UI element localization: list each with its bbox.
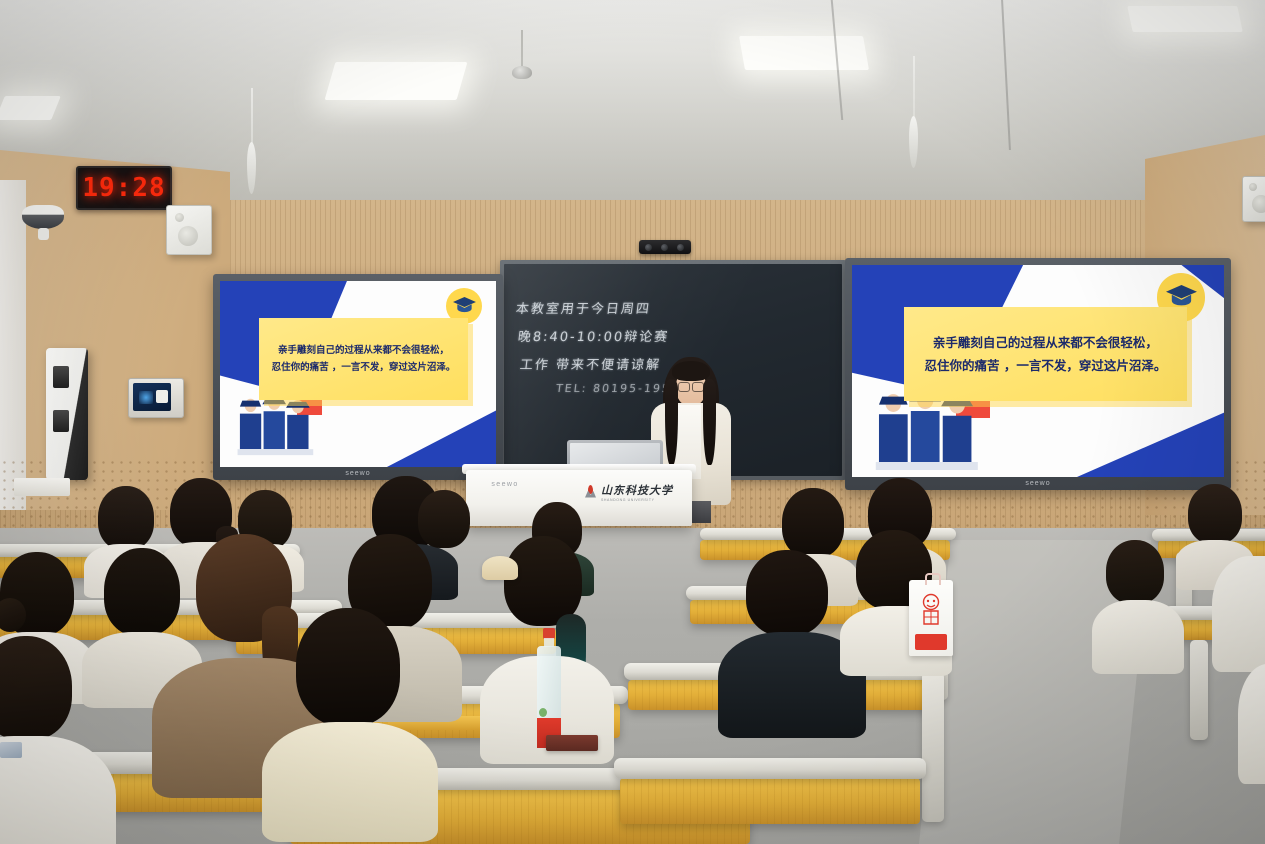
ceiling-panel-light — [0, 96, 61, 120]
display-brand-bar-left: seewo — [213, 467, 503, 480]
paper-stack — [14, 478, 70, 496]
university-name-en: SHANDONG UNIVERSITY — [601, 498, 673, 502]
slide-quote-card: 亲手雕刻自己的过程从来都不会很轻松， 忍住你的痛苦 ，一言不发，穿过这片沼泽。 — [259, 318, 469, 400]
slide-quote-line-2: 忍住你的痛苦 ，一言不发，穿过这片沼泽。 — [272, 359, 456, 377]
ceiling-panel-light — [1127, 6, 1243, 32]
display-brand-right: seewo — [1025, 480, 1050, 487]
notebook — [546, 735, 598, 751]
bench-row-front-right — [620, 778, 920, 824]
bench-rail — [614, 758, 926, 779]
university-crest-icon: 山东科技大学 SHANDONG UNIVERSITY — [584, 482, 673, 502]
microphone-cable — [251, 88, 253, 144]
presenter-hair-strand — [703, 379, 716, 465]
digital-wall-clock: 19:28 — [76, 166, 172, 210]
speaker-icon — [1242, 176, 1265, 222]
display-screen-left[interactable]: 亲手雕刻自己的过程从来都不会很轻松， 忍住你的痛苦 ，一言不发，穿过这片沼泽。 … — [213, 274, 503, 480]
dome-camera-icon — [22, 205, 64, 229]
snowman-mascot-icon — [916, 592, 946, 634]
slide-quote-line-1: 亲手雕刻自己的过程从来都不会很轻松， — [933, 331, 1158, 354]
eyeglasses-icon — [678, 382, 704, 390]
display-brand-left: seewo — [345, 470, 370, 477]
beige-cap — [482, 556, 518, 580]
presenter-hair-strand — [665, 379, 678, 465]
display-screen-right[interactable]: 亲手雕刻自己的过程从来都不会很轻松， 忍住你的痛苦 ，一言不发，穿过这片沼泽。 … — [845, 258, 1231, 490]
snack-bag — [909, 580, 953, 656]
camera-mount — [38, 228, 49, 240]
sprinkler-rod — [521, 30, 523, 70]
podium-brand: seewo — [491, 481, 518, 488]
camera-bar-icon — [639, 240, 691, 254]
bench-end-panel — [1190, 640, 1208, 740]
bench-end-panel — [922, 672, 944, 822]
clock-time: 19:28 — [82, 173, 165, 203]
slide-quote-line-1: 亲手雕刻自己的过程从来都不会很轻松， — [278, 342, 449, 360]
blackboard-line-1: 本教室用于今日周四 — [515, 298, 652, 317]
university-name-cn: 山东科技大学 — [601, 482, 673, 498]
water-bottle — [537, 628, 561, 746]
touch-panel-icon[interactable] — [128, 378, 184, 418]
ceiling-panel-light — [325, 62, 468, 100]
dispenser-icon[interactable] — [46, 348, 88, 480]
blackboard-line-3: 工作 带来不便请谅解 — [519, 354, 662, 373]
microphone-cable — [913, 56, 915, 118]
slide-right: 亲手雕刻自己的过程从来都不会很轻松， 忍住你的痛苦 ，一言不发，穿过这片沼泽。 — [852, 265, 1224, 477]
slide-quote-line-2: 忍住你的痛苦 ，一言不发，穿过这片沼泽。 — [925, 354, 1167, 377]
smartphone[interactable] — [0, 742, 22, 758]
presenter-fringe — [672, 361, 710, 381]
speaker-icon — [166, 205, 212, 255]
slide-quote-card: 亲手雕刻自己的过程从来都不会很轻松， 忍住你的痛苦 ，一言不发，穿过这片沼泽。 — [904, 307, 1187, 400]
blackboard-line-2: 晚8:40-10:00辩论赛 — [517, 326, 671, 345]
ceiling-panel-light — [739, 36, 869, 70]
slide-left: 亲手雕刻自己的过程从来都不会很轻松， 忍住你的痛苦 ，一言不发，穿过这片沼泽。 — [220, 281, 496, 467]
lecture-hall-scene: 19:28 本教室用于今日周四 晚8:40-10:00辩论赛 工作 带来不便请谅… — [0, 0, 1265, 844]
sprinkler-head-icon — [512, 66, 532, 79]
podium-brand-plate: seewo — [474, 477, 536, 491]
